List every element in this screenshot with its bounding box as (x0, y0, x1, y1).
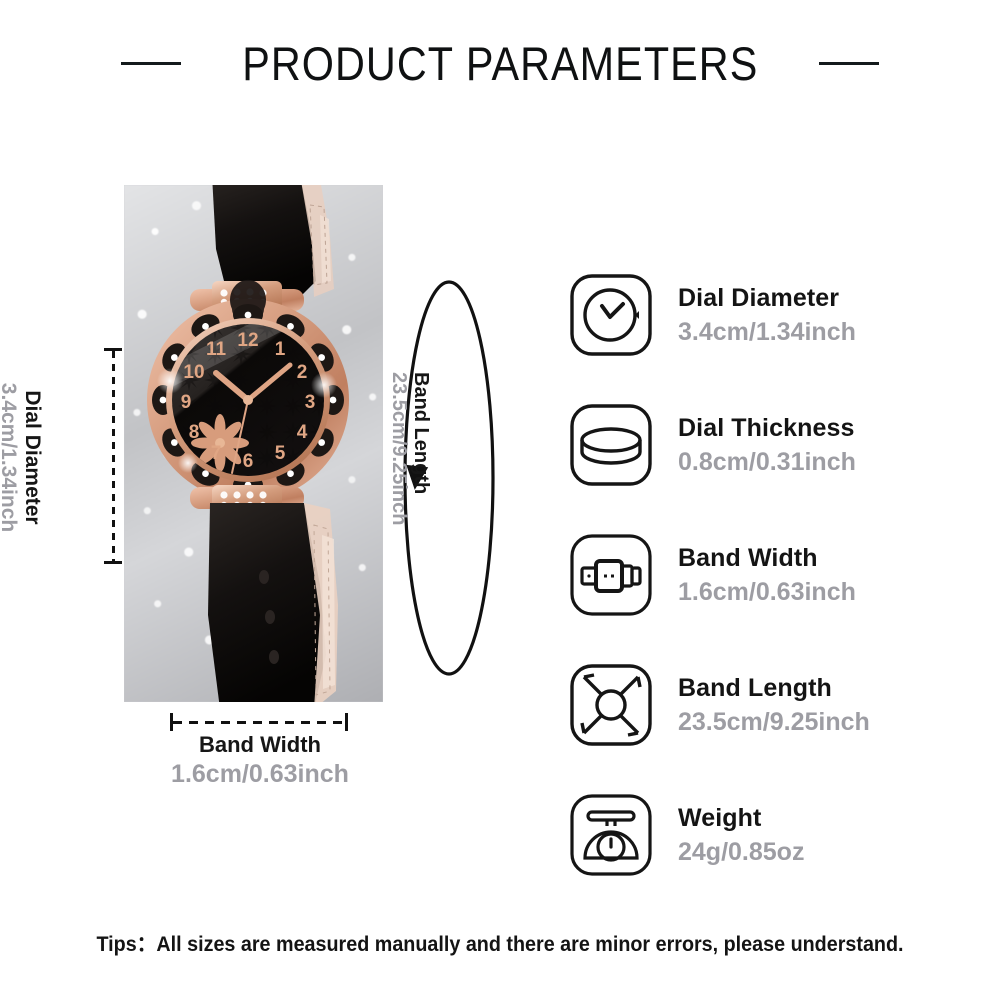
svg-text:12: 12 (237, 330, 258, 351)
parameter-value: 24g/0.85oz (678, 837, 804, 867)
parameter-label: Band Length (678, 673, 870, 703)
parameter-value: 0.8cm/0.31inch (678, 447, 856, 477)
band-length-callout-value: 23.5cm/9.25inch (387, 372, 409, 525)
svg-text:5: 5 (275, 443, 286, 464)
dial-diameter-callout-label: Dial Diameter (20, 350, 44, 565)
dial-diameter-callout: Dial Diameter 3.4cm/1.34inch (0, 350, 44, 565)
band-width-callout-value: 1.6cm/0.63inch (104, 759, 416, 790)
parameter-value: 23.5cm/9.25inch (678, 707, 870, 737)
parameter-label: Dial Thickness (678, 413, 856, 443)
svg-text:11: 11 (206, 339, 227, 360)
svg-text:7: 7 (211, 443, 222, 464)
parameter-label: Weight (678, 803, 804, 833)
dimension-dashed-line-icon (112, 351, 115, 561)
parameter-text-weight: Weight 24g/0.85oz (678, 803, 804, 867)
band-width-callout: Band Width 1.6cm/0.63inch (104, 732, 416, 789)
page-title-row: PRODUCT PARAMETERS (0, 36, 1000, 91)
parameter-text-dial-diameter: Dial Diameter 3.4cm/1.34inch (678, 283, 856, 347)
parameter-row-band-width: Band Width 1.6cm/0.63inch (568, 510, 968, 640)
parameter-row-band-length: Band Length 23.5cm/9.25inch (568, 640, 968, 770)
dial-diameter-dimension-line (104, 348, 122, 564)
svg-text:4: 4 (297, 422, 308, 443)
cylinder-icon (568, 402, 654, 488)
title-left-dash-icon (121, 62, 181, 65)
watch-dial-icon (568, 272, 654, 358)
title-right-dash-icon (819, 62, 879, 65)
parameter-label: Band Width (678, 543, 856, 573)
kitchen-scale-icon (568, 792, 654, 878)
svg-text:6: 6 (243, 451, 254, 472)
dial-diameter-callout-value: 3.4cm/1.34inch (0, 350, 20, 565)
watch-illustration: 12 1 2 3 4 5 6 7 8 9 10 11 (124, 185, 383, 702)
watch-strap-icon (568, 662, 654, 748)
parameter-row-weight: Weight 24g/0.85oz (568, 770, 968, 900)
parameter-text-band-width: Band Width 1.6cm/0.63inch (678, 543, 856, 607)
svg-text:10: 10 (183, 362, 204, 383)
svg-text:3: 3 (305, 392, 316, 413)
tips-note: Tips：All sizes are measured manually and… (30, 928, 970, 958)
buckle-icon (568, 532, 654, 618)
page-title: PRODUCT PARAMETERS (242, 36, 758, 91)
product-photo: 12 1 2 3 4 5 6 7 8 9 10 11 (124, 185, 383, 702)
dimension-cap-bottom-icon (104, 561, 122, 564)
band-length-callout: Band Length 23.5cm/9.25inch (387, 372, 432, 525)
svg-text:1: 1 (275, 339, 286, 360)
dimension-dashed-line-icon (173, 721, 345, 724)
parameter-row-dial-diameter: Dial Diameter 3.4cm/1.34inch (568, 250, 968, 380)
svg-text:2: 2 (297, 362, 308, 383)
parameter-text-dial-thickness: Dial Thickness 0.8cm/0.31inch (678, 413, 856, 477)
band-width-dimension-line (170, 713, 348, 731)
parameter-value: 1.6cm/0.63inch (678, 577, 856, 607)
band-width-callout-label: Band Width (104, 732, 416, 759)
svg-text:9: 9 (181, 392, 192, 413)
parameter-label: Dial Diameter (678, 283, 856, 313)
dimension-cap-right-icon (345, 713, 348, 731)
parameter-row-dial-thickness: Dial Thickness 0.8cm/0.31inch (568, 380, 968, 510)
parameter-value: 3.4cm/1.34inch (678, 317, 856, 347)
band-length-callout-label: Band Length (410, 372, 432, 525)
parameter-list: Dial Diameter 3.4cm/1.34inch Dial Thickn… (568, 250, 968, 900)
parameter-text-band-length: Band Length 23.5cm/9.25inch (678, 673, 870, 737)
svg-text:8: 8 (189, 422, 200, 443)
